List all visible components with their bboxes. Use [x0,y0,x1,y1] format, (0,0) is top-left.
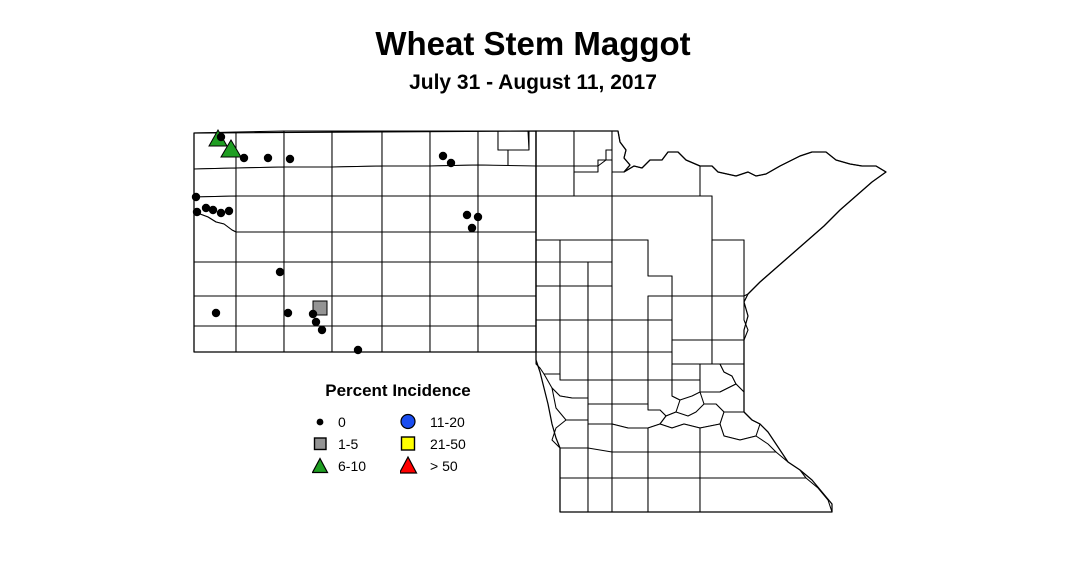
marker-0 [209,206,217,214]
legend: Percent Incidence 0 1-5 6-10 [300,378,500,482]
marker-0 [212,309,220,317]
marker-0 [318,326,326,334]
legend-label-11-20: 11-20 [430,414,465,430]
marker-0 [468,224,476,232]
green-triangle-icon [312,455,334,477]
minnesota-counties [536,131,886,512]
marker-0 [354,346,362,354]
marker-0 [312,318,320,326]
marker-0 [192,193,200,201]
legend-label-0: 0 [338,414,346,430]
legend-label-over-50: > 50 [430,458,458,474]
state-county-map [0,0,1066,565]
map-page: Wheat Stem Maggot July 31 - August 11, 2… [0,0,1066,565]
small-dot-icon [312,411,334,433]
gray-square-icon [312,433,334,455]
marker-0 [240,154,248,162]
marker-0 [309,310,317,318]
marker-0 [447,159,455,167]
marker-0 [439,152,447,160]
marker-0 [225,207,233,215]
red-triangle-icon [400,455,422,477]
marker-0 [217,133,225,141]
yellow-square-icon [400,433,422,455]
blue-circle-icon [400,411,422,433]
map-figure [0,0,1066,565]
marker-0 [264,154,272,162]
legend-label-6-10: 6-10 [338,458,366,474]
legend-title: Percent Incidence [300,382,496,399]
marker-0 [286,155,294,163]
marker-0 [217,209,225,217]
marker-0 [193,208,201,216]
marker-0 [284,309,292,317]
marker-0 [463,211,471,219]
legend-label-1-5: 1-5 [338,436,358,452]
marker-0 [276,268,284,276]
legend-label-21-50: 21-50 [430,436,466,452]
marker-0 [474,213,482,221]
north-dakota-counties [194,131,536,352]
